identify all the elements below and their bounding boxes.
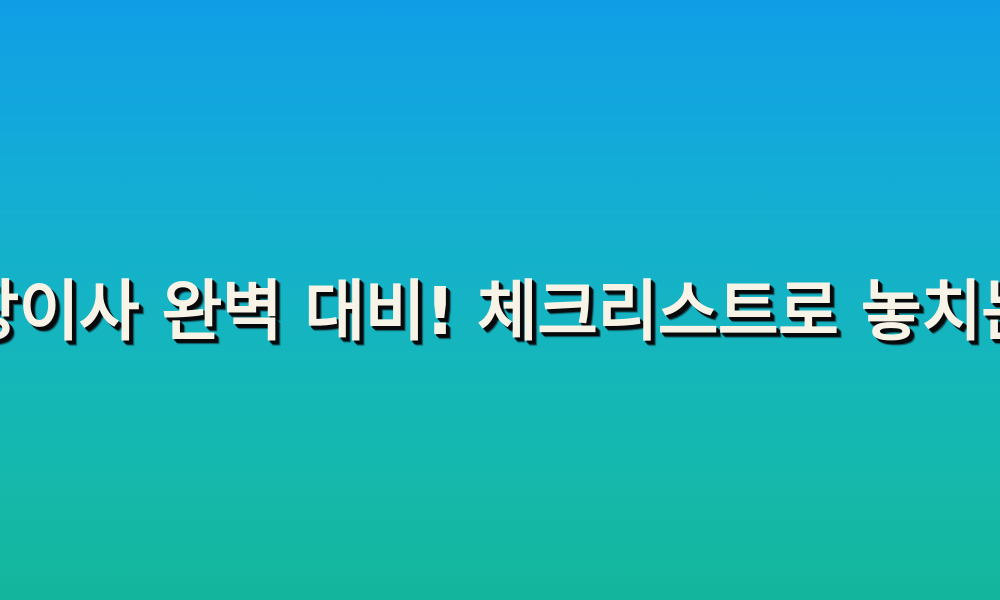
thumbnail-canvas: 장이사 완벽 대비! 체크리스트로 놓치는 (0, 0, 1000, 600)
headline-text: 장이사 완벽 대비! 체크리스트로 놓치는 (0, 277, 1000, 346)
headline-band: 장이사 완벽 대비! 체크리스트로 놓치는 (0, 0, 1000, 600)
